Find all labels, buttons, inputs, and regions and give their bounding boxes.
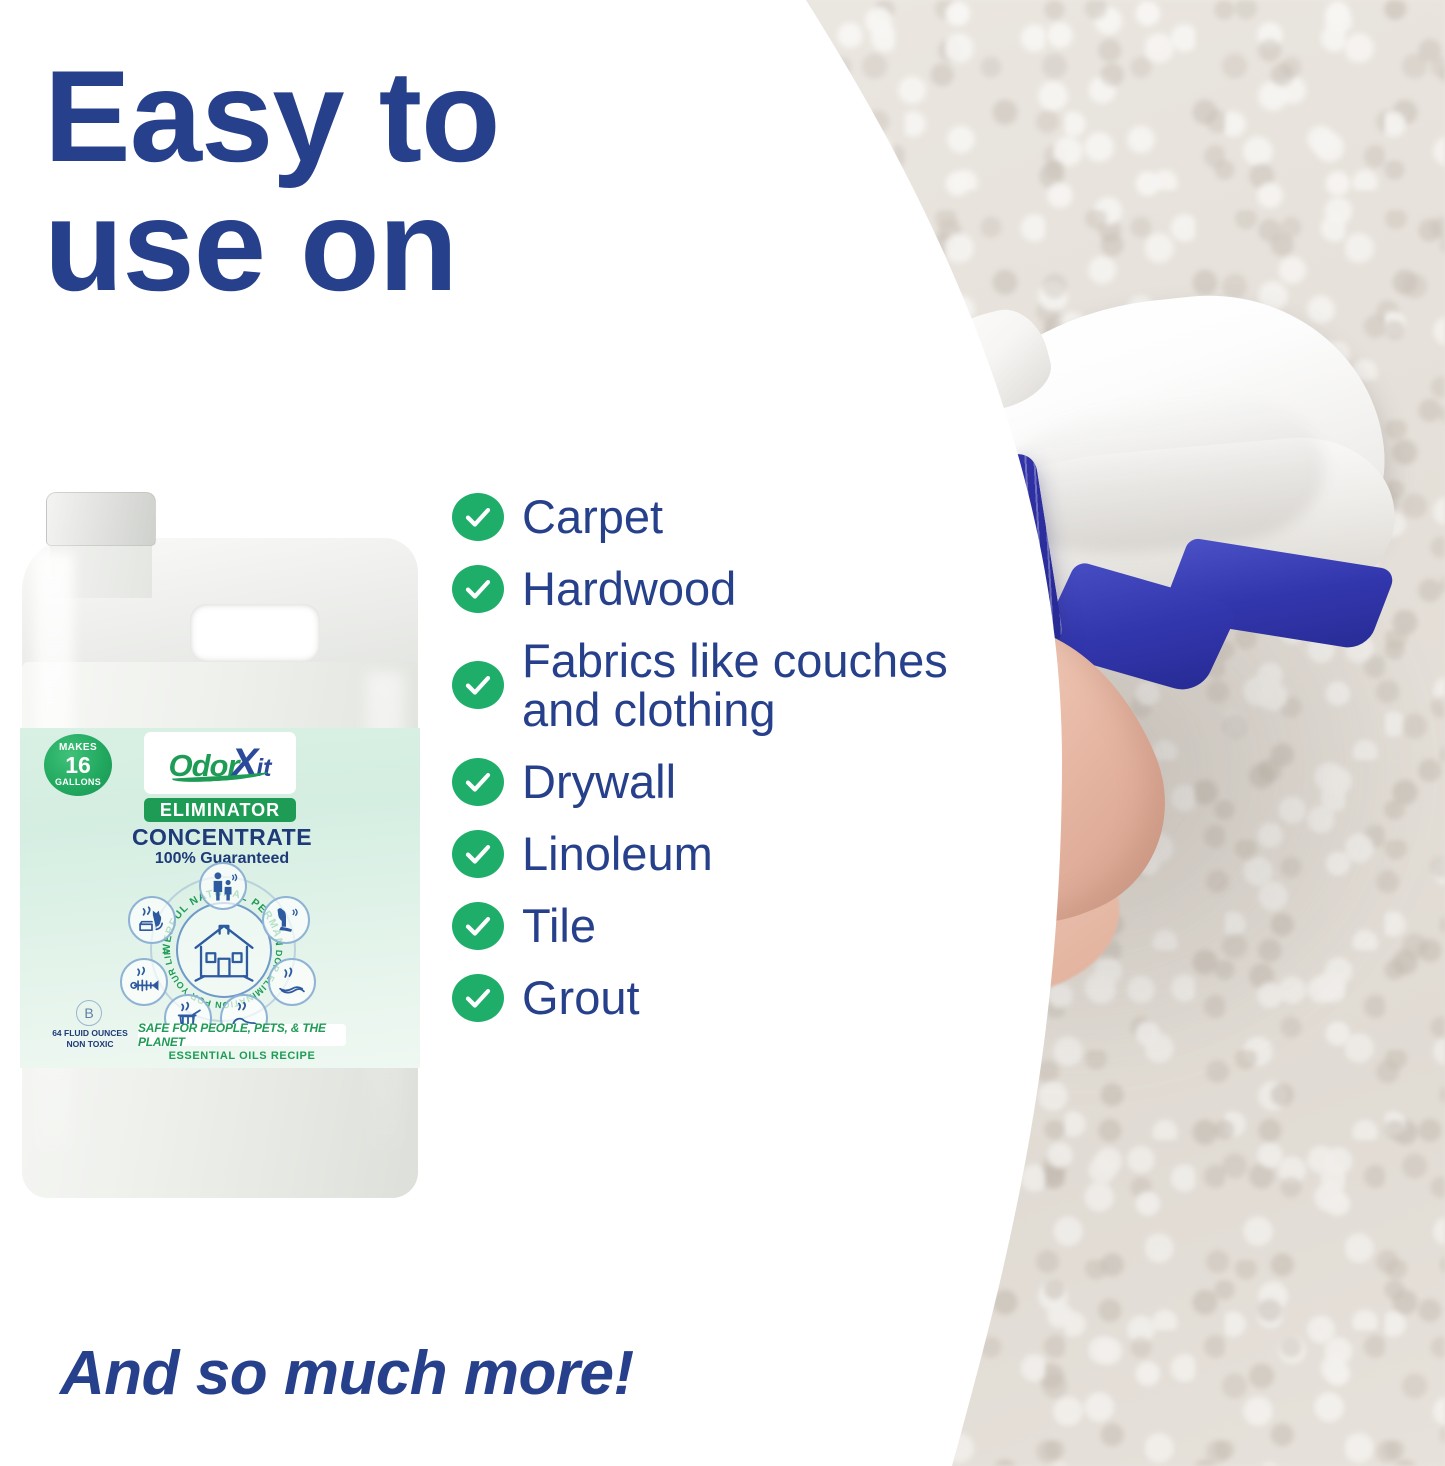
list-item-label: Carpet [522,492,663,542]
recycle-mark-icon: B [76,1000,102,1026]
check-circle-icon [452,830,504,878]
badge-line-3: GALLONS [55,778,101,787]
house-icon [176,902,272,998]
check-circle-icon [452,565,504,613]
check-circle-icon [452,902,504,950]
check-circle-icon [452,493,504,541]
list-item: Carpet [452,492,1052,542]
brand-logo: OdorXit [144,732,296,794]
check-circle-icon [452,758,504,806]
list-item: Tile [452,901,1052,951]
list-item-label: Drywall [522,757,676,807]
list-item-label: Hardwood [522,564,736,614]
list-item: Hardwood [452,564,1052,614]
page-title: Easy to use on [44,52,704,309]
list-item-label: Grout [522,973,640,1023]
check-circle-icon [452,974,504,1022]
product-bottle: MAKES 16 GALLONS OdorXit ELIMINATOR CONC… [14,492,426,1198]
essential-oils-recipe-text: ESSENTIAL OILS RECIPE [130,1050,354,1062]
fish-bone-icon [120,958,168,1006]
list-item: Fabrics like couches and clothing [452,636,1052,736]
eliminator-banner: ELIMINATOR [144,798,296,822]
makes-gallons-badge: MAKES 16 GALLONS [44,734,112,796]
check-circle-icon [452,661,504,709]
safe-for-people-pets-planet-banner: SAFE FOR PEOPLE, PETS, & THE PLANET [138,1024,346,1046]
concentrate-text: CONCENTRATE [124,824,320,851]
list-item-label: Tile [522,901,596,951]
bottle-cap [46,492,156,546]
skunk-icon [268,958,316,1006]
benefits-checklist: Carpet Hardwood Fabrics like couches and… [452,492,1052,1045]
person-and-child-icon [199,862,247,910]
list-item-label: Fabrics like couches and clothing [522,636,948,736]
product-label: MAKES 16 GALLONS OdorXit ELIMINATOR CONC… [20,728,420,1068]
odor-emblem: POWERFUL NATURAL PERMANENT ODOR ELIMINAT… [116,870,330,1026]
list-item: Linoleum [452,829,1052,879]
tagline: And so much more! [60,1338,634,1409]
bottle-handle-hole [190,604,320,662]
dog-icon [262,896,310,944]
badge-line-2: 16 [65,754,91,777]
list-item: Grout [452,973,1052,1023]
nozzle-tip [919,336,935,347]
list-item: Drywall [452,757,1052,807]
fluid-ounces-text: 64 FLUID OUNCES NON TOXIC [48,1028,132,1051]
list-item-label: Linoleum [522,829,713,879]
cat-litter-box-icon [128,896,176,944]
